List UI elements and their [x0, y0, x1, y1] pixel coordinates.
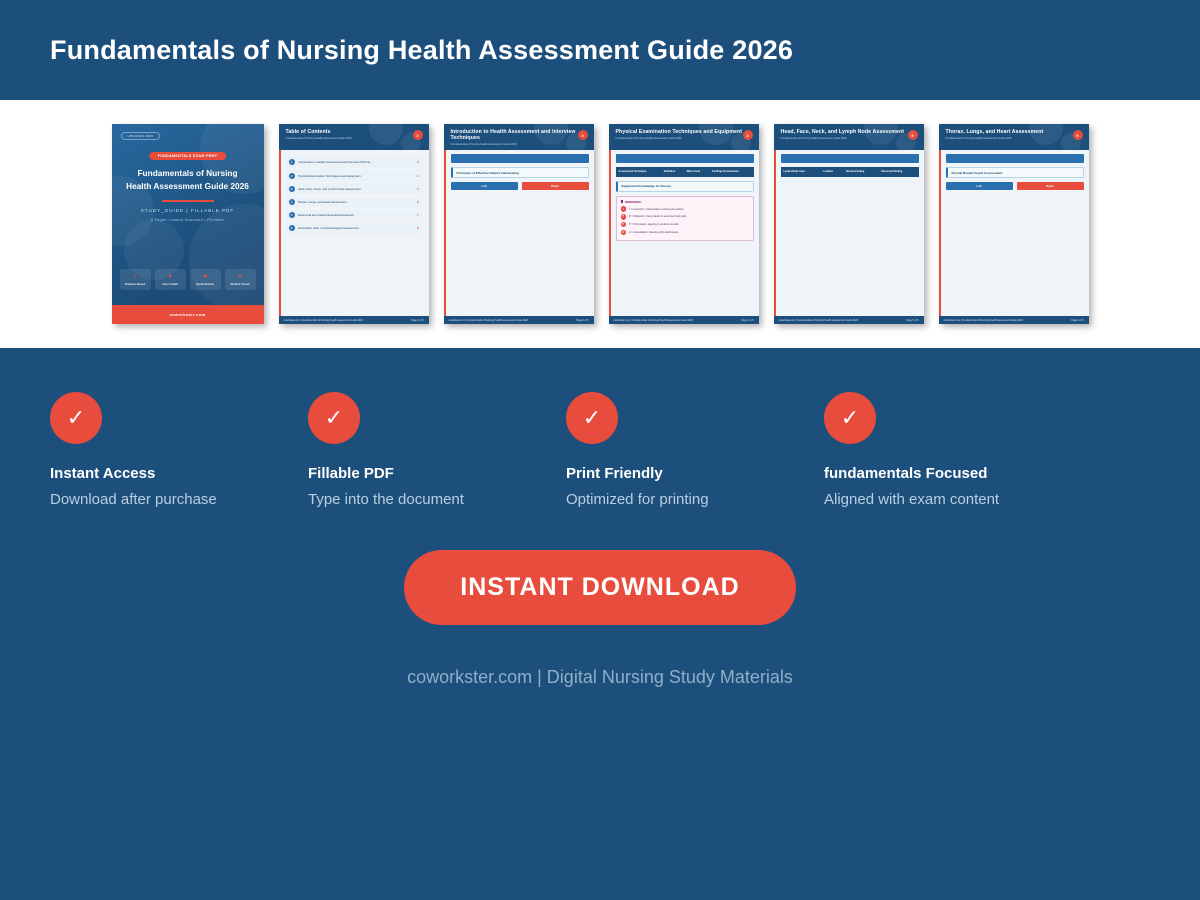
mnemonic-text: P = Percussion: tapping to produce sound… — [629, 223, 678, 226]
mnemonic-item: I I = Inspection: Observation involving … — [621, 206, 749, 212]
two-column-row: Left Right — [946, 182, 1084, 190]
feature-instant-access: ✓ Instant Access Download after purchase — [50, 392, 308, 508]
page-title: Introduction to Health Assessment and In… — [451, 129, 588, 141]
table-header-cell: Location — [820, 168, 843, 177]
page-footer: coworkster.com | Fundamentals of Nursing… — [939, 316, 1089, 324]
check-icon: ✓ — [308, 392, 360, 444]
toc-item[interactable]: 3 Head, Face, Neck, and Lymph Node Asses… — [286, 183, 422, 194]
two-column-row: Left Right — [451, 182, 589, 190]
toc-label: Head, Face, Neck, and Lymph Node Assessm… — [298, 187, 414, 191]
page-title: Head, Face, Neck, and Lymph Node Assessm… — [781, 129, 918, 135]
cover-feature-item: ● Student Tested — [225, 269, 256, 290]
feature-title: Print Friendly — [566, 465, 824, 482]
column-right: Right — [522, 182, 589, 190]
feature-description: Aligned with exam content — [824, 491, 1082, 508]
table-header-row: Assessment Technique Definition When Use… — [616, 168, 753, 177]
page-title: Fundamentals of Nursing Health Assessmen… — [50, 35, 793, 66]
mnemonic-bullet: P — [621, 214, 627, 220]
page-header-band: Table of Contents Fundamentals of Nursin… — [279, 124, 429, 150]
mnemonic-bullet: A — [621, 230, 627, 236]
feature-row: ✓ Instant Access Download after purchase… — [0, 348, 1200, 508]
feature-description: Download after purchase — [50, 491, 308, 508]
page-body: Lymph Node Area Location Normal Finding … — [774, 150, 924, 177]
feature-description: Type into the document — [308, 491, 566, 508]
thumbnail-strip: UPDATED 2026 FUNDAMENTALS EXAM PREP Fund… — [0, 100, 1200, 348]
table-header-row: Lymph Node Area Location Normal Finding … — [781, 168, 918, 177]
toc-label: Abdominal and Gastrointestinal Assessmen… — [298, 213, 414, 217]
toc-number: 5 — [289, 212, 295, 218]
page-title: Thorax, Lungs, and Heart Assessment — [946, 129, 1083, 135]
thumbnail-page-4[interactable]: Physical Examination Techniques and Equi… — [609, 124, 759, 324]
section-box-title: Principles of Effective Patient Intervie… — [457, 171, 584, 175]
page-subtitle: Fundamentals of Nursing Health Assessmen… — [616, 137, 753, 140]
toc-label: Introduction to Health Assessment and In… — [298, 160, 414, 164]
section-box: Equipment Knowledge for Nurses — [616, 181, 754, 192]
toc-list: 1 Introduction to Health Assessment and … — [286, 154, 424, 234]
page-header-band: Physical Examination Techniques and Equi… — [609, 124, 759, 150]
cover-feature-item: ✓ Evidence Based — [120, 269, 151, 290]
square-icon: ■ — [191, 274, 220, 280]
page-footer-right: Page 3 of 6 — [576, 319, 588, 322]
section-box: Principles of Effective Patient Intervie… — [451, 167, 589, 178]
cover-feature-label: Quick Review — [191, 283, 220, 286]
toc-item[interactable]: 5 Abdominal and Gastrointestinal Assessm… — [286, 210, 422, 221]
page-footer: coworkster.com | Fundamentals of Nursing… — [609, 316, 759, 324]
section-box-title: Normal Breath Sound Assessment — [952, 171, 1079, 175]
toc-label: Physical Examination Techniques and Equi… — [298, 174, 414, 178]
feature-fundamentals-focused: ✓ fundamentals Focused Aligned with exam… — [824, 392, 1082, 508]
mnemonic-text: I = Inspection: Observation involving th… — [629, 208, 684, 211]
toc-number: 1 — [289, 159, 295, 165]
page-subtitle: Fundamentals of Nursing Health Assessmen… — [451, 143, 588, 146]
thumbnail-page-6[interactable]: Thorax, Lungs, and Heart Assessment Fund… — [939, 124, 1089, 324]
toc-page: 8 — [417, 226, 419, 230]
page-body: 1 Introduction to Health Assessment and … — [279, 150, 429, 234]
toc-number: 6 — [289, 225, 295, 231]
toc-page: 7 — [417, 213, 419, 217]
page-number-badge: 5 — [908, 130, 918, 140]
page-footer-left: coworkster.com | Fundamentals of Nursing… — [284, 319, 363, 322]
page-subtitle: Fundamentals of Nursing Health Assessmen… — [946, 137, 1083, 140]
toc-label: Thorax, Lungs, and Heart Assessment — [298, 200, 414, 204]
feature-title: fundamentals Focused — [824, 465, 1082, 482]
mnemonic-item: P P = Palpation: Using hands to examine … — [621, 214, 749, 220]
toc-page: 5 — [417, 187, 419, 191]
mnemonic-item: A A = Auscultation: listening with steth… — [621, 230, 749, 236]
column-left: Left — [946, 182, 1013, 190]
table-header-cell: Definition — [661, 168, 684, 177]
mnemonic-box: MNEMONIC: I I = Inspection: Observation … — [616, 196, 754, 241]
page-footer-right: Page 2 of 6 — [411, 319, 423, 322]
page-body: Normal Breath Sound Assessment Left Righ… — [939, 150, 1089, 190]
feature-title: Instant Access — [50, 465, 308, 482]
page-footer-right: Page 5 of 6 — [906, 319, 918, 322]
table-header-cell: Normal Finding — [843, 168, 878, 177]
table-header-cell: Abnormal Finding — [878, 168, 918, 177]
page-number-badge: 4 — [743, 130, 753, 140]
mnemonic-item: P P = Percussion: tapping to produce sou… — [621, 222, 749, 228]
table-header-cell: Lymph Node Area — [781, 168, 820, 177]
thumbnail-cover-page[interactable]: UPDATED 2026 FUNDAMENTALS EXAM PREP Fund… — [112, 124, 264, 324]
page-title: Physical Examination Techniques and Equi… — [616, 129, 753, 135]
page-header: Fundamentals of Nursing Health Assessmen… — [0, 0, 1200, 100]
page-body: Assessment Technique Definition When Use… — [609, 150, 759, 241]
page-footer-right: Page 6 of 6 — [1071, 319, 1083, 322]
assessment-table: Assessment Technique Definition When Use… — [616, 167, 754, 177]
toc-number: 3 — [289, 186, 295, 192]
page-footer: coworkster.com | Fundamentals of Nursing… — [279, 316, 429, 324]
site-footer: coworkster.com | Digital Nursing Study M… — [0, 667, 1200, 688]
cover-feature-label: Student Tested — [226, 283, 255, 286]
page-subtitle: Fundamentals of Nursing Health Assessmen… — [286, 137, 423, 140]
section-band — [781, 154, 919, 163]
dot-icon: ● — [156, 274, 185, 280]
page-footer-left: coworkster.com | Fundamentals of Nursing… — [944, 319, 1023, 322]
page-header-band: Introduction to Health Assessment and In… — [444, 124, 594, 150]
table-header-cell: Assessment Technique — [616, 168, 661, 177]
page-header-band: Thorax, Lungs, and Heart Assessment Fund… — [939, 124, 1089, 150]
cover-title-line2: Health Assessment Guide 2026 — [112, 181, 264, 191]
page-footer: coworkster.com | Fundamentals of Nursing… — [444, 316, 594, 324]
page-title: Table of Contents — [286, 129, 423, 135]
page-number-badge: 3 — [578, 130, 588, 140]
cover-feature-label: Evidence Based — [121, 283, 150, 286]
cover-feature-list: ✓ Evidence Based ● Color Coded ■ Quick R… — [120, 269, 256, 290]
toc-page: 4 — [417, 174, 419, 178]
toc-item[interactable]: 6 Extremities, Skin, and Neurological As… — [286, 223, 422, 234]
page-footer-left: coworkster.com | Fundamentals of Nursing… — [614, 319, 693, 322]
feature-description: Optimized for printing — [566, 491, 824, 508]
check-icon: ✓ — [121, 274, 150, 280]
check-icon: ✓ — [824, 392, 876, 444]
cover-divider — [162, 200, 214, 202]
cover-title-line1: Fundamentals of Nursing — [112, 168, 264, 178]
toc-page: 3 — [417, 160, 419, 164]
cover-feature-item: ■ Quick Review — [190, 269, 221, 290]
toc-item[interactable]: 2 Physical Examination Techniques and Eq… — [286, 170, 422, 181]
column-left: Left — [451, 182, 518, 190]
cover-badge: FUNDAMENTALS EXAM PREP — [149, 152, 227, 160]
cover-feature-item: ● Color Coded — [155, 269, 186, 290]
instant-download-button[interactable]: INSTANT DOWNLOAD — [404, 550, 795, 625]
cover-feature-label: Color Coded — [156, 283, 185, 286]
feature-fillable-pdf: ✓ Fillable PDF Type into the document — [308, 392, 566, 508]
page-header-band: Head, Face, Neck, and Lymph Node Assessm… — [774, 124, 924, 150]
page-number-badge: 2 — [413, 130, 423, 140]
toc-label: Extremities, Skin, and Neurological Asse… — [298, 226, 414, 230]
thumbnail-page-3[interactable]: Introduction to Health Assessment and In… — [444, 124, 594, 324]
page-body: Principles of Effective Patient Intervie… — [444, 150, 594, 190]
check-icon: ✓ — [50, 392, 102, 444]
check-icon: ✓ — [566, 392, 618, 444]
toc-item[interactable]: 1 Introduction to Health Assessment and … — [286, 157, 422, 168]
cover-updated-pill: UPDATED 2026 — [121, 132, 161, 140]
section-band — [451, 154, 589, 163]
mnemonic-text: P = Palpation: Using hands to examine bo… — [629, 215, 687, 218]
section-band — [616, 154, 754, 163]
cta-container: INSTANT DOWNLOAD — [0, 550, 1200, 625]
feature-print-friendly: ✓ Print Friendly Optimized for printing — [566, 392, 824, 508]
feature-title: Fillable PDF — [308, 465, 566, 482]
cover-meta: 6 Pages • Instant Download • Printable — [112, 218, 264, 222]
toc-number: 4 — [289, 199, 295, 205]
page-footer-left: coworkster.com | Fundamentals of Nursing… — [779, 319, 858, 322]
column-right: Right — [1017, 182, 1084, 190]
thumbnail-page-5[interactable]: Head, Face, Neck, and Lymph Node Assessm… — [774, 124, 924, 324]
mnemonic-bullet: I — [621, 206, 627, 212]
mnemonic-bullet: P — [621, 222, 627, 228]
table-header-cell: When Used — [684, 168, 710, 177]
page-number-badge: 6 — [1073, 130, 1083, 140]
toc-item[interactable]: 4 Thorax, Lungs, and Heart Assessment 6 — [286, 197, 422, 208]
lymph-node-table: Lymph Node Area Location Normal Finding … — [781, 167, 919, 177]
dot-icon: ● — [226, 274, 255, 280]
mnemonic-text: A = Auscultation: listening with stethos… — [629, 231, 679, 234]
cover-footer: coworkster.com — [112, 305, 264, 324]
page-footer-right: Page 4 of 6 — [741, 319, 753, 322]
page-footer: coworkster.com | Fundamentals of Nursing… — [774, 316, 924, 324]
thumbnail-page-2[interactable]: Table of Contents Fundamentals of Nursin… — [279, 124, 429, 324]
section-box: Normal Breath Sound Assessment — [946, 167, 1084, 178]
cover-subtitle: STUDY_GUIDE | FILLABLE PDF — [112, 208, 264, 213]
section-band — [946, 154, 1084, 163]
table-header-cell: Findings Documented — [710, 168, 753, 177]
section-box-title: Equipment Knowledge for Nurses — [622, 184, 749, 188]
page-footer-left: coworkster.com | Fundamentals of Nursing… — [449, 319, 528, 322]
toc-page: 6 — [417, 200, 419, 204]
toc-number: 2 — [289, 173, 295, 179]
mnemonic-heading: MNEMONIC: — [621, 200, 749, 204]
page-subtitle: Fundamentals of Nursing Health Assessmen… — [781, 137, 918, 140]
